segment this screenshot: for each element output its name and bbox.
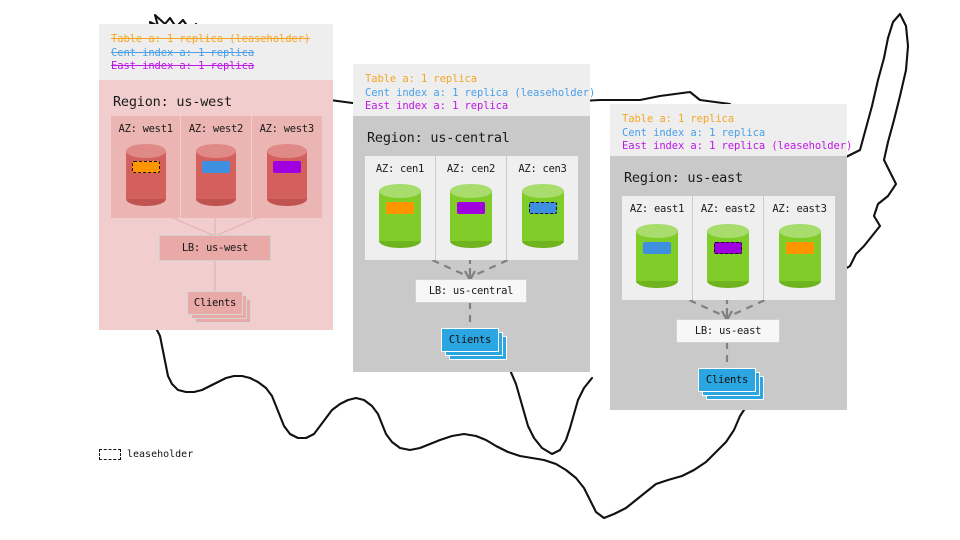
- load-balancer-us-central[interactable]: LB: us-central: [415, 279, 527, 303]
- region-body-us-central: Region: us-central AZ: cen1: [353, 116, 590, 372]
- az-cen2[interactable]: AZ: cen2: [436, 156, 507, 260]
- dashed-rect-swatch-icon: [99, 449, 121, 460]
- node-cylinder-cen1[interactable]: [379, 184, 421, 248]
- replica-line-east: East index a: 1 replica (leaseholder): [622, 140, 835, 154]
- replica-line-cent: Cent index a: 1 replica: [111, 47, 321, 61]
- load-balancer-us-west[interactable]: LB: us-west: [159, 235, 271, 261]
- replica-line-table: Table a: 1 replica: [622, 113, 835, 127]
- node-cylinder-west3[interactable]: [267, 144, 307, 206]
- leaseholder-key: leaseholder: [99, 449, 193, 460]
- cylinder-top: [196, 144, 236, 158]
- diagram-canvas: Table a: 1 replica (leaseholder) Cent in…: [0, 0, 960, 540]
- az-label-cen2: AZ: cen2: [447, 163, 495, 175]
- leaseholder-key-label: leaseholder: [127, 449, 193, 460]
- range-replica-cent[interactable]: [643, 242, 671, 254]
- az-east2[interactable]: AZ: east2: [693, 196, 764, 300]
- clients-label-us-east[interactable]: Clients: [698, 368, 756, 392]
- clients-us-central[interactable]: Clients: [441, 328, 509, 362]
- az-label-west1: AZ: west1: [119, 123, 173, 135]
- replica-line-east: East index a: 1 replica: [111, 60, 321, 74]
- cylinder-top: [707, 224, 749, 238]
- replica-line-table: Table a: 1 replica: [365, 73, 578, 87]
- cylinder-top: [522, 184, 564, 198]
- cylinder-body: [636, 231, 678, 281]
- replica-line-cent: Cent index a: 1 replica (leaseholder): [365, 87, 578, 101]
- clients-us-east[interactable]: Clients: [698, 368, 766, 402]
- node-cylinder-east3[interactable]: [779, 224, 821, 288]
- region-panel-us-west[interactable]: Table a: 1 replica (leaseholder) Cent in…: [99, 24, 333, 330]
- node-cylinder-west2[interactable]: [196, 144, 236, 206]
- az-row-us-west: AZ: west1 AZ: west2: [111, 116, 322, 218]
- region-panel-us-central[interactable]: Table a: 1 replica Cent index a: 1 repli…: [353, 64, 590, 372]
- cylinder-top: [779, 224, 821, 238]
- cylinder-body: [707, 231, 749, 281]
- az-west2[interactable]: AZ: west2: [181, 116, 251, 218]
- replica-line-cent: Cent index a: 1 replica: [622, 127, 835, 141]
- range-replica-table-leaseholder[interactable]: [132, 161, 160, 173]
- cylinder-top: [267, 144, 307, 158]
- node-cylinder-cen2[interactable]: [450, 184, 492, 248]
- az-west3[interactable]: AZ: west3: [252, 116, 322, 218]
- az-label-cen1: AZ: cen1: [376, 163, 424, 175]
- cylinder-top: [450, 184, 492, 198]
- az-label-east2: AZ: east2: [701, 203, 755, 215]
- cylinder-body: [267, 151, 307, 199]
- node-cylinder-cen3[interactable]: [522, 184, 564, 248]
- node-cylinder-west1[interactable]: [126, 144, 166, 206]
- region-replica-legend-us-east: Table a: 1 replica Cent index a: 1 repli…: [610, 104, 847, 156]
- clients-label-us-west[interactable]: Clients: [187, 291, 243, 315]
- cylinder-top: [379, 184, 421, 198]
- az-east3[interactable]: AZ: east3: [764, 196, 835, 300]
- replica-line-table: Table a: 1 replica (leaseholder): [111, 33, 321, 47]
- az-cen1[interactable]: AZ: cen1: [365, 156, 436, 260]
- cylinder-body: [779, 231, 821, 281]
- az-label-cen3: AZ: cen3: [518, 163, 566, 175]
- region-body-us-west: Region: us-west AZ: west1: [99, 80, 333, 330]
- range-replica-table[interactable]: [786, 242, 814, 254]
- range-replica-table[interactable]: [386, 202, 414, 214]
- region-replica-legend-us-west: Table a: 1 replica (leaseholder) Cent in…: [99, 24, 333, 80]
- az-row-us-east: AZ: east1 AZ: east2: [622, 196, 835, 300]
- region-panel-us-east[interactable]: Table a: 1 replica Cent index a: 1 repli…: [610, 104, 847, 410]
- az-row-us-central: AZ: cen1 AZ: cen2: [365, 156, 578, 260]
- cylinder-top: [636, 224, 678, 238]
- az-cen3[interactable]: AZ: cen3: [507, 156, 578, 260]
- cylinder-body: [196, 151, 236, 199]
- range-replica-east[interactable]: [273, 161, 301, 173]
- region-body-us-east: Region: us-east AZ: east1: [610, 156, 847, 410]
- node-cylinder-east2[interactable]: [707, 224, 749, 288]
- az-west1[interactable]: AZ: west1: [111, 116, 181, 218]
- az-label-west2: AZ: west2: [189, 123, 243, 135]
- clients-label-us-central[interactable]: Clients: [441, 328, 499, 352]
- node-cylinder-east1[interactable]: [636, 224, 678, 288]
- az-east1[interactable]: AZ: east1: [622, 196, 693, 300]
- load-balancer-us-east[interactable]: LB: us-east: [676, 319, 780, 343]
- cylinder-body: [379, 191, 421, 241]
- clients-us-west[interactable]: Clients: [187, 291, 253, 325]
- cylinder-body: [522, 191, 564, 241]
- range-replica-east[interactable]: [457, 202, 485, 214]
- cylinder-body: [126, 151, 166, 199]
- az-label-east3: AZ: east3: [772, 203, 826, 215]
- replica-line-east: East index a: 1 replica: [365, 100, 578, 114]
- az-label-west3: AZ: west3: [260, 123, 314, 135]
- range-replica-cent[interactable]: [202, 161, 230, 173]
- range-replica-east-leaseholder[interactable]: [714, 242, 742, 254]
- cylinder-top: [126, 144, 166, 158]
- az-label-east1: AZ: east1: [630, 203, 684, 215]
- cylinder-body: [450, 191, 492, 241]
- region-replica-legend-us-central: Table a: 1 replica Cent index a: 1 repli…: [353, 64, 590, 116]
- range-replica-cent-leaseholder[interactable]: [529, 202, 557, 214]
